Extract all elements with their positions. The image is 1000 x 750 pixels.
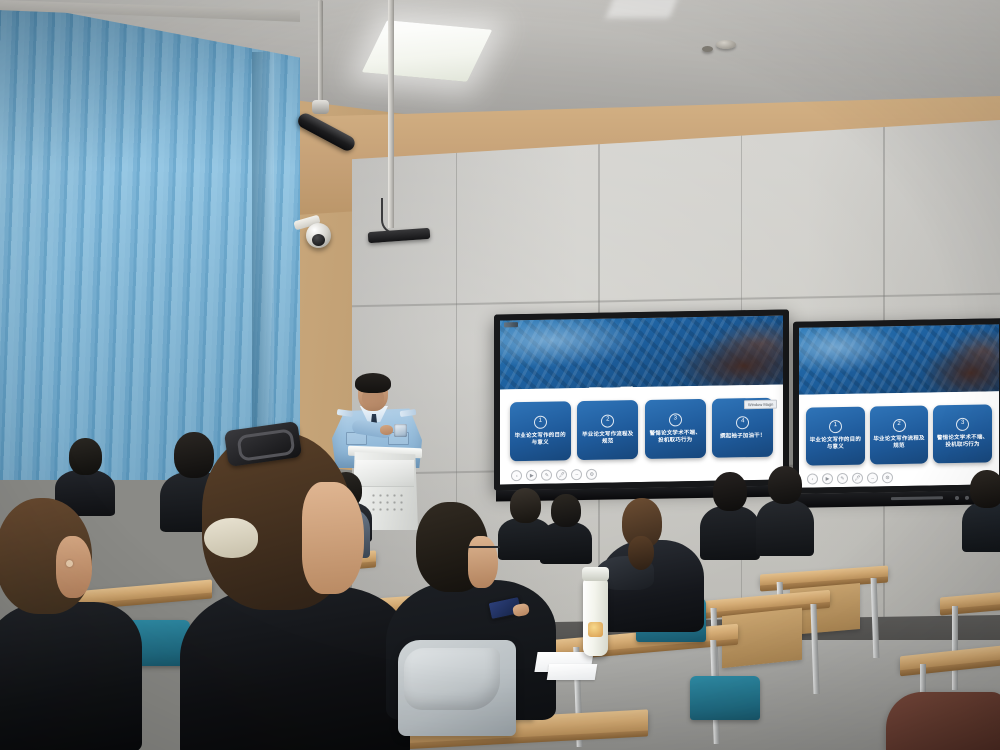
student-face bbox=[56, 536, 92, 598]
chair bbox=[690, 676, 760, 720]
ceiling-light-panel-secondary bbox=[606, 0, 679, 18]
display-bezel bbox=[793, 318, 1000, 494]
ceiling-pole bbox=[388, 0, 394, 228]
student-torso bbox=[0, 602, 142, 750]
earring-icon bbox=[66, 560, 73, 567]
student bbox=[180, 426, 410, 750]
hair-scrunchie-icon bbox=[204, 518, 258, 558]
student bbox=[756, 466, 814, 554]
bottle-cap bbox=[582, 567, 609, 581]
microphone-rod bbox=[318, 0, 323, 108]
uniform-epaulet bbox=[400, 409, 417, 417]
smoke-detector-icon bbox=[716, 40, 736, 49]
sprinkler-icon bbox=[702, 46, 713, 52]
student-head bbox=[970, 470, 1000, 508]
student-face bbox=[468, 536, 498, 588]
presenter-hair bbox=[355, 373, 391, 393]
student-torso bbox=[180, 586, 410, 750]
student-ponytail bbox=[628, 536, 654, 570]
classroom-photo: 目 录 CONTENTS 1 毕业论文写作的目的与意义 2 毕业论文写作流程及规… bbox=[0, 0, 1000, 750]
left-display[interactable]: 目 录 CONTENTS 1 毕业论文写作的目的与意义 2 毕业论文写作流程及规… bbox=[494, 309, 789, 490]
student-head bbox=[69, 438, 102, 475]
display-bezel bbox=[494, 309, 789, 490]
glasses-icon bbox=[468, 546, 500, 558]
student-torso bbox=[756, 500, 814, 556]
dome-camera-icon bbox=[300, 214, 334, 248]
student bbox=[0, 498, 142, 750]
student bbox=[600, 498, 704, 628]
bottle-sticker-icon bbox=[588, 622, 603, 637]
power-indicator bbox=[955, 496, 959, 500]
student-head bbox=[713, 472, 747, 511]
desk-leg bbox=[952, 606, 958, 690]
student-torso bbox=[700, 506, 760, 560]
water-bottle bbox=[583, 578, 608, 656]
paper-sheet bbox=[547, 664, 598, 680]
window-curtain bbox=[0, 0, 300, 480]
uniform-epaulet bbox=[337, 409, 354, 417]
right-display[interactable]: 目 录 CONTENTS 1 毕业论文写作的目的与意义 2 毕业论文写作流程及规… bbox=[793, 318, 1000, 494]
control-strip-label bbox=[891, 496, 943, 500]
curtain-edge bbox=[252, 52, 274, 480]
pole-cable bbox=[381, 198, 405, 234]
student-head bbox=[768, 466, 802, 504]
student bbox=[962, 470, 1000, 550]
chair-backrest bbox=[886, 692, 1000, 750]
student-torso bbox=[962, 502, 1000, 552]
backpack-flap bbox=[404, 648, 500, 710]
student-face bbox=[302, 482, 364, 594]
camera-lens bbox=[312, 234, 325, 246]
microphone-joint bbox=[312, 100, 329, 114]
student bbox=[700, 472, 760, 558]
